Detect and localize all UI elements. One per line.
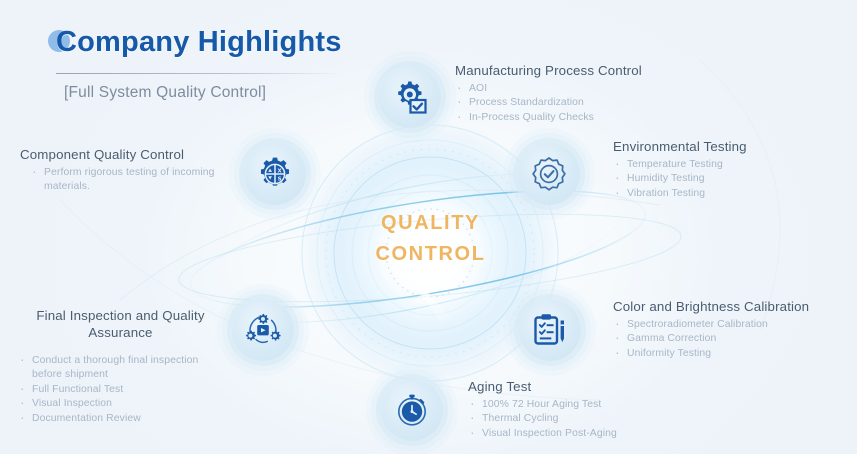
list-item: Perform rigorous testing of incoming mat… — [30, 166, 230, 195]
heading-aging-test: Aging Test — [468, 378, 683, 395]
bullets-component-quality-control: Perform rigorous testing of incoming mat… — [30, 166, 230, 195]
page-subtitle: [Full System Quality Control] — [64, 84, 266, 102]
process-gears-icon — [232, 299, 294, 361]
list-item: Uniformity Testing — [613, 347, 838, 361]
heading-color-brightness-calibration: Color and Brightness Calibration — [613, 298, 838, 315]
bullets-manufacturing-process-control: AOI Process Standardization In-Process Q… — [455, 82, 670, 125]
title-underline — [56, 73, 343, 74]
block-final-inspection-quality-assurance: Final Inspection and Quality Assurance C… — [18, 307, 223, 426]
block-component-quality-control: Component Quality Control Perform rigoro… — [20, 146, 230, 195]
list-item: Temperature Testing — [613, 158, 828, 172]
bullets-environmental-testing: Temperature Testing Humidity Testing Vib… — [613, 158, 828, 201]
bullets-color-brightness-calibration: Spectroradiometer Calibration Gamma Corr… — [613, 318, 838, 361]
hub-label: QUALITY CONTROL — [308, 208, 553, 270]
list-item: Full Functional Test — [18, 383, 223, 397]
list-item: Gamma Correction — [613, 332, 838, 346]
gear-check-icon — [379, 66, 441, 128]
block-color-brightness-calibration: Color and Brightness Calibration Spectro… — [613, 298, 838, 361]
bullets-aging-test: 100% 72 Hour Aging Test Thermal Cycling … — [468, 398, 683, 441]
list-item: In-Process Quality Checks — [455, 111, 670, 125]
list-item: Visual Inspection Post-Aging — [468, 427, 683, 441]
page-title: Company Highlights — [44, 22, 374, 62]
list-item: Thermal Cycling — [468, 412, 683, 426]
list-item: Visual Inspection — [18, 397, 223, 411]
heading-final-inspection-quality-assurance: Final Inspection and Quality Assurance — [18, 307, 223, 341]
heading-environmental-testing: Environmental Testing — [613, 138, 828, 155]
list-item: Vibration Testing — [613, 187, 828, 201]
slide-canvas: Company Highlights [Full System Quality … — [0, 0, 857, 454]
heading-component-quality-control: Component Quality Control — [20, 146, 230, 163]
list-item: AOI — [455, 82, 670, 96]
badge-check-icon — [518, 143, 580, 205]
gear-quadrant-icon: X S — [244, 143, 306, 205]
list-item: Process Standardization — [455, 96, 670, 110]
hub-label-line1: QUALITY — [308, 208, 553, 239]
bullets-final-inspection-quality-assurance: Conduct a thorough final inspection befo… — [18, 354, 223, 426]
heading-manufacturing-process-control: Manufacturing Process Control — [455, 62, 670, 79]
hub-label-line2: CONTROL — [308, 239, 553, 270]
center-hub: QUALITY CONTROL — [308, 150, 553, 355]
slide-header: Company Highlights [Full System Quality … — [44, 22, 374, 62]
list-item: 100% 72 Hour Aging Test — [468, 398, 683, 412]
block-aging-test: Aging Test 100% 72 Hour Aging Test Therm… — [468, 378, 683, 441]
list-item: Documentation Review — [18, 412, 223, 426]
list-item: Humidity Testing — [613, 172, 828, 186]
clipboard-pen-icon — [519, 299, 581, 361]
list-item: Spectroradiometer Calibration — [613, 318, 838, 332]
block-manufacturing-process-control: Manufacturing Process Control AOI Proces… — [455, 62, 670, 125]
stopwatch-icon — [381, 379, 443, 441]
svg-text:S: S — [278, 176, 282, 182]
list-item: Conduct a thorough final inspection befo… — [18, 354, 223, 383]
block-environmental-testing: Environmental Testing Temperature Testin… — [613, 138, 828, 201]
